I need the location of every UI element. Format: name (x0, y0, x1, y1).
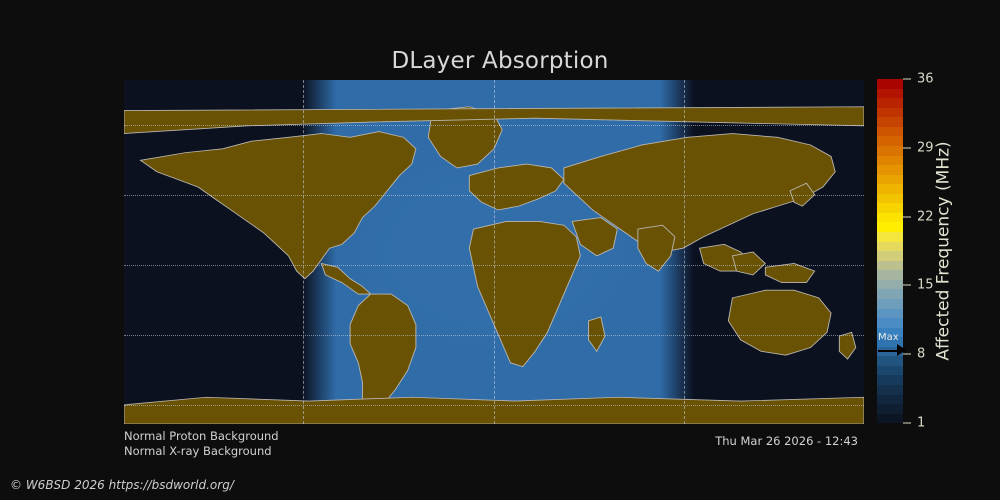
colorbar-segment (877, 318, 903, 328)
tick-label: 1 (917, 416, 925, 431)
colorbar-segment (877, 175, 903, 185)
colorbar-tick: 8 (903, 347, 925, 362)
colorbar-tick: 15 (903, 278, 934, 293)
dlayer-absorption-page: DLayer Absorption (0, 0, 1000, 500)
colorbar-segment (877, 165, 903, 175)
colorbar-segment (877, 328, 903, 338)
timestamp: Thu Mar 26 2026 - 12:43 (715, 434, 858, 448)
colorbar-segment (877, 309, 903, 319)
colorbar-segment (877, 184, 903, 194)
colorbar-segment (877, 146, 903, 156)
colorbar-gradient (877, 79, 903, 423)
colorbar-segment (877, 232, 903, 242)
colorbar-segment (877, 395, 903, 405)
proton-background-note: Normal Proton Background (124, 429, 279, 444)
colorbar-segment (877, 366, 903, 376)
colorbar-segment (877, 203, 903, 213)
copyright-notice: © W6BSD 2026 https://bsdworld.org/ (10, 478, 234, 492)
colorbar-segment (877, 156, 903, 166)
colorbar-segment (877, 127, 903, 137)
status-notes: Normal Proton Background Normal X-ray Ba… (124, 429, 279, 459)
gridline-lon-90e (684, 80, 685, 424)
colorbar-segment (877, 289, 903, 299)
colorbar-segment (877, 270, 903, 280)
colorbar-segment (877, 414, 903, 424)
colorbar-segment (877, 280, 903, 290)
tick-mark (903, 423, 911, 424)
colorbar-segment (877, 404, 903, 414)
graticule (124, 80, 864, 424)
colorbar-tick: 1 (903, 416, 925, 431)
colorbar-axis-title: Affected Frequency (MHz) (930, 79, 958, 423)
colorbar-segment (877, 117, 903, 127)
page-title: DLayer Absorption (0, 48, 1000, 74)
colorbar-segment (877, 337, 903, 347)
colorbar-segment (877, 136, 903, 146)
tick-mark (903, 354, 911, 355)
world-absorption-map[interactable] (124, 80, 864, 424)
colorbar-tick: 29 (903, 140, 934, 155)
colorbar-tick: 36 (903, 72, 934, 87)
tick-mark (903, 216, 911, 217)
colorbar-segment (877, 385, 903, 395)
gridline-lon-0 (494, 80, 495, 424)
tick-mark (903, 285, 911, 286)
colorbar-segment (877, 251, 903, 261)
colorbar-segment (877, 194, 903, 204)
colorbar-segment (877, 375, 903, 385)
colorbar-segment (877, 356, 903, 366)
colorbar-title-text: Affected Frequency (MHz) (934, 141, 954, 360)
colorbar-segment (877, 79, 903, 89)
gridline-lon-90w (303, 80, 304, 424)
colorbar-segment (877, 242, 903, 252)
tick-label: 8 (917, 347, 925, 362)
colorbar-segment (877, 213, 903, 223)
colorbar-tick: 22 (903, 209, 934, 224)
colorbar-segment (877, 299, 903, 309)
colorbar-segment (877, 108, 903, 118)
tick-mark (903, 79, 911, 80)
colorbar-segment (877, 261, 903, 271)
colorbar[interactable] (877, 79, 903, 423)
tick-mark (903, 147, 911, 148)
colorbar-segment (877, 89, 903, 99)
xray-background-note: Normal X-ray Background (124, 444, 279, 459)
colorbar-segment (877, 222, 903, 232)
colorbar-segment (877, 98, 903, 108)
colorbar-segment (877, 347, 903, 357)
